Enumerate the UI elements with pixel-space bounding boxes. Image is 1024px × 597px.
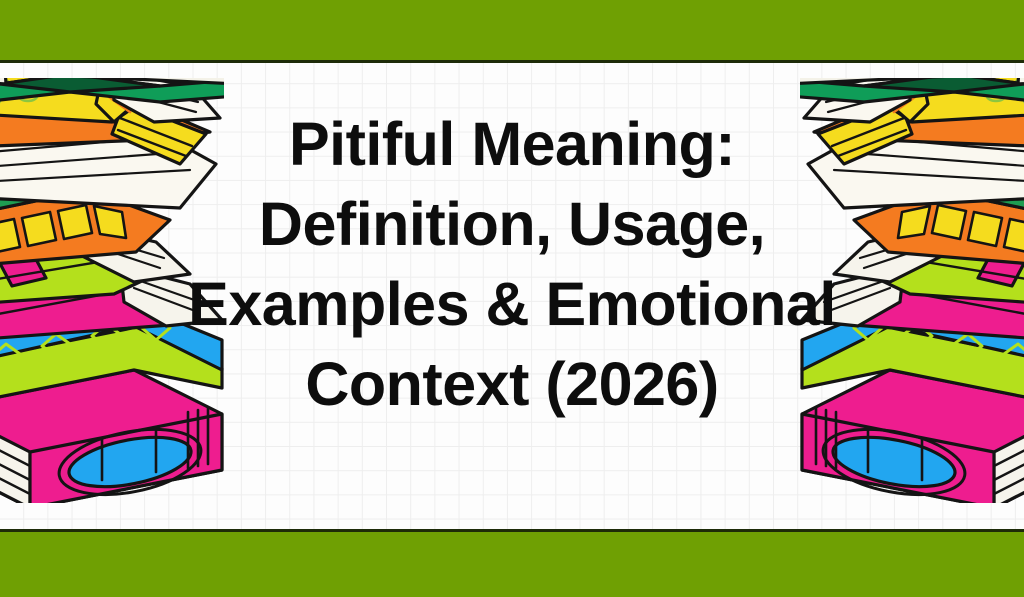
book-stack-left (0, 78, 224, 503)
book-stack-illustration (800, 78, 1024, 503)
top-green-bar (0, 0, 1024, 63)
book-stack-illustration (0, 78, 224, 503)
banner: Pitiful Meaning: Definition, Usage, Exam… (0, 0, 1024, 597)
bottom-green-bar: leximeaning.com (0, 529, 1024, 597)
book-stack-right (800, 78, 1024, 503)
